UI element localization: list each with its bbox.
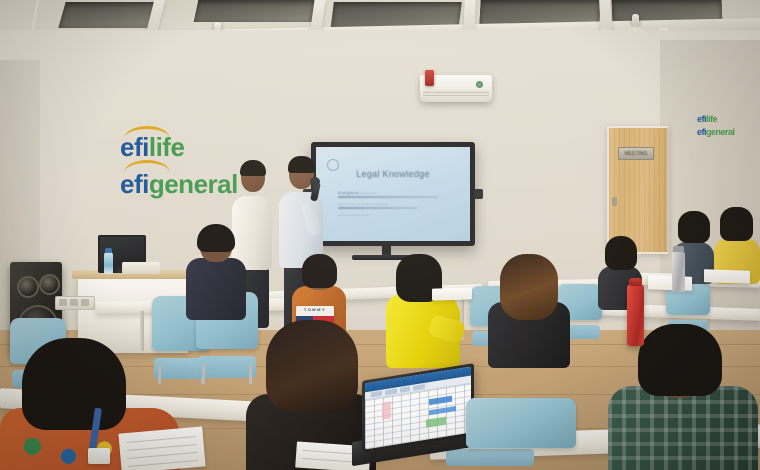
- logo-right-life: life: [706, 114, 717, 124]
- wall-logo-right: efilife efigeneral: [697, 114, 735, 137]
- paper-sheet[interactable]: [432, 287, 472, 300]
- slide-body: ตามกฎหมาย — — — — — — — — — — — — — — — …: [338, 191, 452, 218]
- laptop-screen: [365, 367, 471, 450]
- door-handle[interactable]: [612, 197, 617, 206]
- wall-logo-main: efilife efigeneral: [120, 132, 238, 200]
- attendee-plaid-shirt: [608, 330, 758, 470]
- logo-efi-prefix-2: efi: [120, 169, 149, 199]
- microphone-head: [310, 177, 320, 186]
- paper-sheet[interactable]: [704, 269, 750, 284]
- logo-general-suffix: general: [149, 169, 238, 199]
- slide-body-line-3: — — — — — — —: [338, 213, 452, 218]
- bag-text-top: TOMMY: [296, 307, 334, 312]
- logo-right-efi: efi: [697, 114, 706, 124]
- paper-tray: [122, 262, 160, 274]
- logo-right-efi-2: efi: [697, 127, 706, 137]
- spreadsheet-highlight-pink: [382, 401, 392, 420]
- blue-water-bottle[interactable]: [104, 252, 113, 274]
- attendee-yellow-blazer: [386, 258, 464, 368]
- logo-right-general: general: [706, 127, 735, 137]
- presenter-white-hair: [240, 160, 266, 176]
- ceiling-panel: [58, 2, 161, 28]
- door-sign-label: MEETING: [625, 151, 648, 157]
- display-side-bracket-right: [474, 189, 483, 199]
- chair-foreground[interactable]: [466, 398, 576, 470]
- silver-thermos[interactable]: [672, 251, 685, 292]
- presenter-blue-hair: [288, 156, 315, 173]
- slide-screen: Legal Knowledge ตามกฎหมาย — — — — — — — …: [316, 147, 470, 241]
- attendee-black-top: [488, 256, 572, 368]
- badge: [88, 448, 110, 464]
- wall-power-outlets[interactable]: [55, 296, 95, 310]
- door-sign: MEETING: [618, 147, 654, 160]
- attendee-navy-tshirt: [184, 224, 250, 320]
- desk-leg: [140, 311, 144, 351]
- red-water-bottle[interactable]: [627, 284, 644, 346]
- training-room-photo: efilife efigeneral efilife efigeneral ME…: [0, 0, 760, 470]
- fire-alarm-icon: [425, 70, 434, 86]
- room-door[interactable]: [607, 126, 669, 254]
- ceiling-beam: [599, 0, 612, 34]
- paper-sheet[interactable]: [648, 275, 692, 291]
- ceiling-panel: [194, 0, 317, 22]
- presentation-display[interactable]: Legal Knowledge ตามกฎหมาย — — — — — — — …: [311, 142, 475, 246]
- slide-title: Legal Knowledge: [316, 169, 470, 179]
